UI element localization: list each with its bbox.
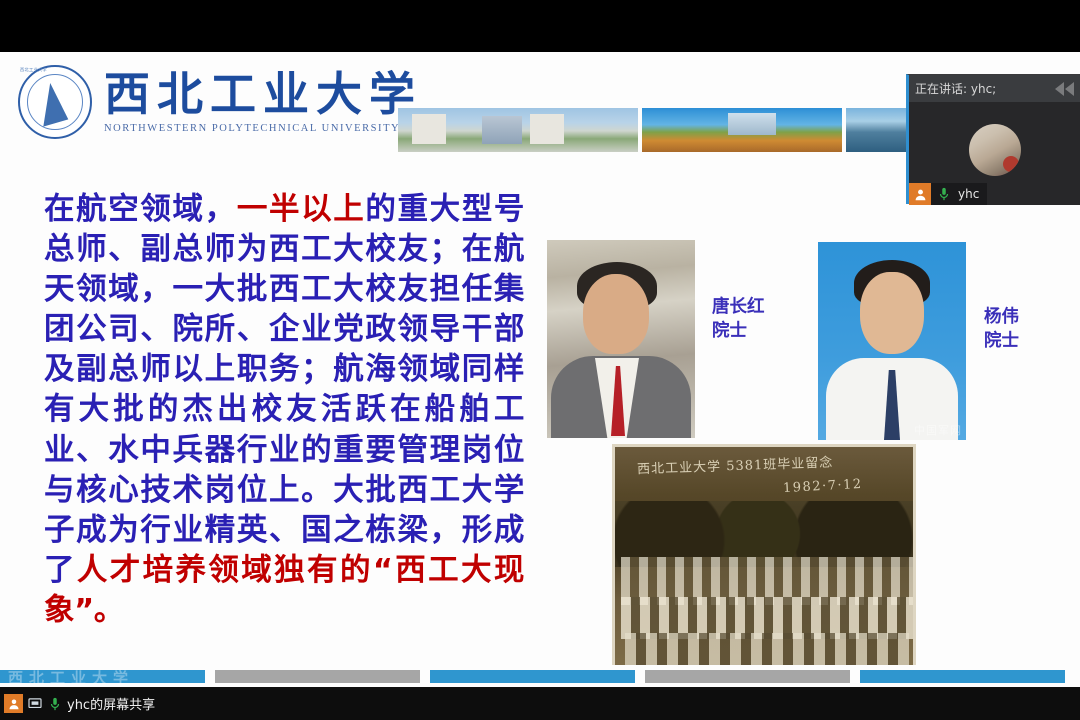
portrait-caption-tang-title: 院士 — [712, 320, 765, 344]
slide-footer-strip: 西北工业大学 — [0, 665, 1080, 687]
class-group-photo: 西北工业大学 5381班毕业留念 1982·7·12 — [612, 444, 916, 668]
portrait-caption-yang-name: 杨伟 — [984, 306, 1019, 330]
portrait-photo-tang — [547, 240, 695, 438]
person-icon — [909, 183, 931, 205]
campus-gate-photo — [398, 108, 638, 152]
group-photo-date: 1982·7·12 — [783, 477, 863, 496]
microphone-icon — [935, 187, 953, 201]
participant-avatar — [969, 124, 1021, 176]
video-stage[interactable]: yhc — [909, 102, 1080, 205]
portrait-caption-tang: 唐长红 院士 — [712, 296, 765, 343]
body-seg-3: 。 — [94, 593, 124, 628]
speaking-status-label: 正在讲话: yhc; — [915, 80, 996, 97]
portrait-caption-tang-name: 唐长红 — [712, 296, 765, 320]
microphone-icon — [46, 697, 63, 711]
participant-name-label: yhc — [958, 187, 979, 201]
university-logo: 西北工业大学 西北工业大学 NORTHWESTERN POLYTECHNICAL… — [18, 56, 390, 148]
university-name-en: NORTHWESTERN POLYTECHNICAL UNIVERSITY — [104, 123, 422, 134]
portrait-caption-yang: 杨伟 院士 — [984, 306, 1019, 353]
portrait-watermark: 中国军网 — [914, 422, 962, 438]
portrait-photo-yang: 中国军网 — [818, 242, 966, 440]
body-seg-2: 的重大型号总师、副总师为西工大校友；在航天领域，一大批西工大校友担任集团公司、院… — [44, 192, 524, 588]
footer-strip-segment — [215, 670, 420, 683]
footer-strip-segment — [860, 670, 1065, 683]
group-photo-handwriting: 西北工业大学 5381班毕业留念 — [637, 452, 834, 478]
double-chevron-right-icon[interactable] — [1055, 82, 1074, 96]
slide-body-text: 在航空领域，一半以上的重大型号总师、副总师为西工大校友；在航天领域，一大批西工大… — [44, 190, 524, 631]
person-icon — [4, 694, 23, 713]
campus-aerial-photo — [642, 108, 842, 152]
portrait-caption-yang-title: 院士 — [984, 330, 1019, 354]
screen-share-icon — [26, 698, 43, 710]
body-paragraph: 在航空领域，一半以上的重大型号总师、副总师为西工大校友；在航天领域，一大批西工大… — [44, 190, 524, 631]
screen-share-label: yhc的屏幕共享 — [67, 694, 155, 713]
participant-nameplate: yhc — [909, 183, 987, 205]
university-seal-icon: 西北工业大学 — [18, 65, 92, 139]
video-participant-panel[interactable]: 正在讲话: yhc; yhc — [906, 74, 1080, 204]
screen-share-taskbar: yhc的屏幕共享 — [0, 687, 1080, 720]
body-seg-1: 在航空领域， — [44, 192, 237, 227]
body-highlight-1: 一半以上 — [237, 192, 366, 227]
footer-strip-segment — [430, 670, 635, 683]
seal-ring-label: 西北工业大学 — [20, 67, 90, 137]
video-panel-header: 正在讲话: yhc; — [909, 75, 1080, 102]
university-logo-text: 西北工业大学 NORTHWESTERN POLYTECHNICAL UNIVER… — [104, 70, 422, 133]
footer-strip-segment — [645, 670, 850, 683]
screen-root: 西北工业大学 西北工业大学 NORTHWESTERN POLYTECHNICAL… — [0, 0, 1080, 720]
footer-strip-segment — [0, 670, 205, 683]
university-name-cn: 西北工业大学 — [104, 70, 422, 118]
